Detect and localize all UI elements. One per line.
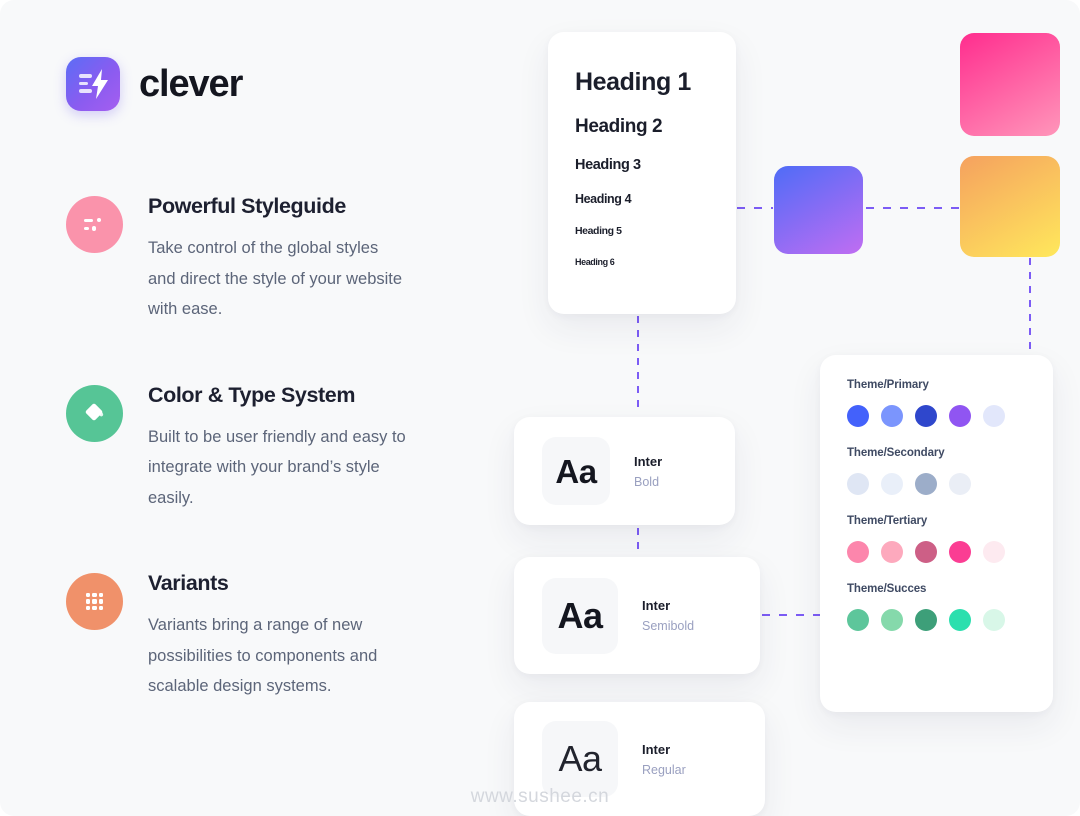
color-swatch[interactable]: [983, 405, 1005, 427]
feature-title: Powerful Styleguide: [148, 194, 446, 219]
heading-4-sample: Heading 4: [575, 192, 736, 206]
styleguide-canvas: clever Powerful Styleguide Take control …: [0, 0, 1080, 816]
color-swatch[interactable]: [949, 473, 971, 495]
color-swatch-row: [847, 541, 1053, 563]
color-swatch[interactable]: [949, 609, 971, 631]
font-sample-glyph: Aa: [557, 598, 602, 634]
feature-title: Color & Type System: [148, 383, 446, 408]
color-swatch[interactable]: [915, 609, 937, 631]
font-family-name: Inter: [642, 598, 694, 613]
color-swatch[interactable]: [949, 405, 971, 427]
feature-item-variants: Variants Variants bring a range of new p…: [66, 571, 446, 702]
feature-list: Powerful Styleguide Take control of the …: [66, 181, 446, 702]
color-group-secondary: Theme/Secondary: [847, 447, 1053, 495]
feature-description: Take control of the global styles and di…: [148, 233, 410, 325]
font-sample-tile: Aa: [542, 578, 618, 654]
color-swatch[interactable]: [915, 405, 937, 427]
feature-description: Built to be user friendly and easy to in…: [148, 422, 410, 514]
color-swatch[interactable]: [881, 405, 903, 427]
color-swatch[interactable]: [847, 405, 869, 427]
color-swatch[interactable]: [881, 541, 903, 563]
font-specimen-card-bold[interactable]: Aa Inter Bold: [514, 417, 735, 525]
grid-variants-icon: [66, 573, 123, 630]
feature-item-color-type: Color & Type System Built to be user fri…: [66, 383, 446, 514]
connector-orange-tile-to-colors: [1029, 258, 1031, 355]
brand-logo[interactable]: clever: [66, 57, 242, 111]
typography-heading-card[interactable]: Heading 1 Heading 2 Heading 3 Heading 4 …: [548, 32, 736, 314]
lightning-bolt-icon: [91, 69, 109, 99]
font-sample-tile: Aa: [542, 437, 610, 505]
font-sample-glyph: Aa: [558, 741, 601, 777]
connector-font2-to-colors: [762, 614, 820, 616]
color-swatch[interactable]: [983, 541, 1005, 563]
color-group-tertiary: Theme/Tertiary: [847, 515, 1053, 563]
color-tokens-panel[interactable]: Theme/Primary Theme/Secondary Theme/Tert…: [820, 355, 1053, 712]
connector-heading-to-font: [637, 316, 639, 414]
font-weight-label: Regular: [642, 763, 686, 777]
heading-1-sample: Heading 1: [575, 68, 736, 97]
brand-name: clever: [139, 63, 242, 106]
font-weight-label: Semibold: [642, 619, 694, 633]
color-swatch[interactable]: [915, 541, 937, 563]
paint-bucket-icon: [66, 385, 123, 442]
color-swatch[interactable]: [847, 541, 869, 563]
pink-gradient-tile[interactable]: [960, 33, 1060, 136]
color-swatch[interactable]: [949, 541, 971, 563]
feature-description: Variants bring a range of new possibilit…: [148, 610, 420, 702]
feature-title: Variants: [148, 571, 446, 596]
color-swatch-row: [847, 609, 1053, 631]
feature-item-styleguide: Powerful Styleguide Take control of the …: [66, 194, 446, 325]
color-group-label: Theme/Succes: [847, 583, 1053, 595]
color-swatch-row: [847, 405, 1053, 427]
color-swatch[interactable]: [847, 609, 869, 631]
heading-5-sample: Heading 5: [575, 225, 736, 237]
connector-font1-to-font2: [637, 528, 639, 554]
color-group-success: Theme/Succes: [847, 583, 1053, 631]
heading-6-sample: Heading 6: [575, 257, 736, 267]
font-specimen-card-semibold[interactable]: Aa Inter Semibold: [514, 557, 760, 674]
connector-heading-to-purple-tile: [737, 207, 773, 209]
font-family-name: Inter: [642, 742, 686, 757]
font-sample-glyph: Aa: [555, 455, 596, 488]
color-swatch[interactable]: [983, 609, 1005, 631]
color-swatch[interactable]: [915, 473, 937, 495]
color-swatch[interactable]: [847, 473, 869, 495]
color-group-label: Theme/Tertiary: [847, 515, 1053, 527]
heading-3-sample: Heading 3: [575, 157, 736, 173]
logo-mark-icon: [66, 57, 120, 111]
font-weight-label: Bold: [634, 475, 662, 489]
color-group-label: Theme/Secondary: [847, 447, 1053, 459]
styleguide-dots-icon: [66, 196, 123, 253]
purple-gradient-tile[interactable]: [774, 166, 863, 254]
watermark: www.sushee.cn: [0, 786, 1080, 808]
color-group-primary: Theme/Primary: [847, 379, 1053, 427]
orange-gradient-tile[interactable]: [960, 156, 1060, 257]
color-swatch-row: [847, 473, 1053, 495]
color-group-label: Theme/Primary: [847, 379, 1053, 391]
color-swatch[interactable]: [881, 473, 903, 495]
heading-2-sample: Heading 2: [575, 116, 736, 138]
color-swatch[interactable]: [881, 609, 903, 631]
connector-purple-to-orange-tile: [866, 207, 959, 209]
font-family-name: Inter: [634, 454, 662, 469]
